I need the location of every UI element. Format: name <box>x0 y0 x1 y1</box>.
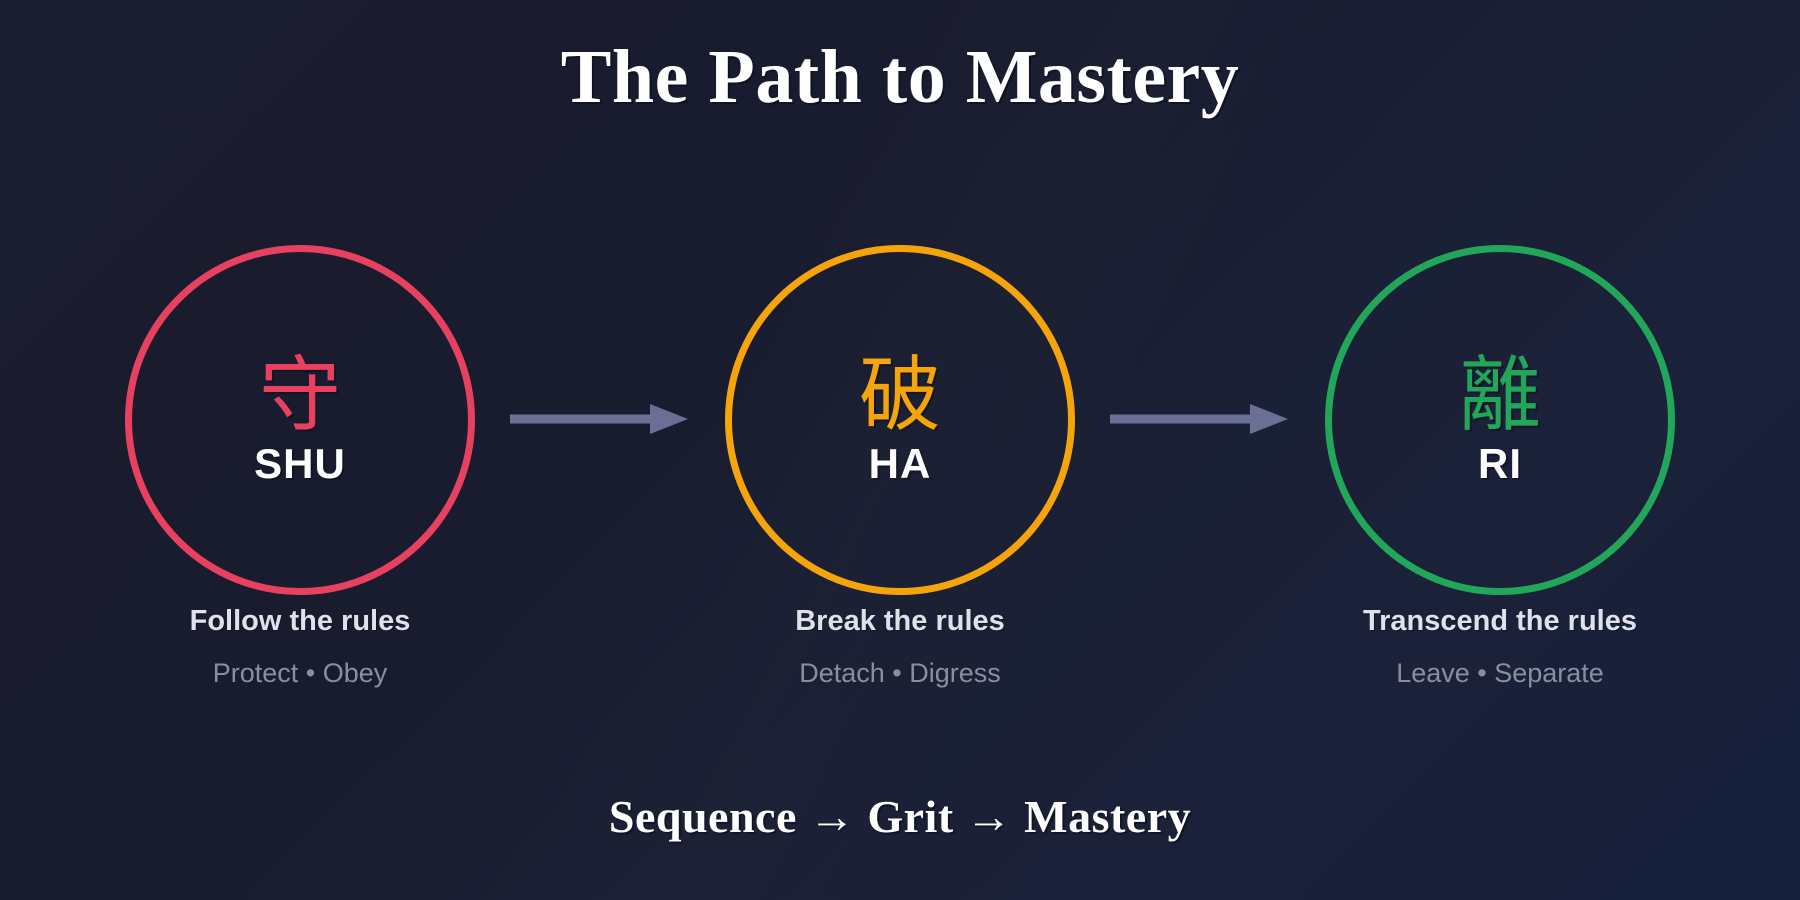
stage-ha[interactable]: 破 HA <box>725 245 1075 595</box>
stage-ha-kanji: 破 <box>859 355 941 437</box>
caption-ri-sub: Leave • Separate <box>1290 658 1710 689</box>
stage-shu-romaji: SHU <box>254 443 346 485</box>
stage-ri-romaji: RI <box>1478 443 1522 485</box>
stage-captions: Follow the rules Protect • Obey Break th… <box>0 605 1800 725</box>
stage-shu[interactable]: 守 SHU <box>125 245 475 595</box>
caption-ha: Break the rules Detach • Digress <box>690 605 1110 689</box>
caption-ha-sub: Detach • Digress <box>690 658 1110 689</box>
stage-ha-romaji: HA <box>869 443 932 485</box>
caption-ha-head: Break the rules <box>690 605 1110 638</box>
caption-shu-sub: Protect • Obey <box>90 658 510 689</box>
caption-shu: Follow the rules Protect • Obey <box>90 605 510 689</box>
stage-shu-content: 守 SHU <box>125 245 475 595</box>
page-title: The Path to Mastery <box>0 34 1800 121</box>
stage-ri[interactable]: 離 RI <box>1325 245 1675 595</box>
stage-ri-content: 離 RI <box>1325 245 1675 595</box>
stage-circles: 守 SHU 破 HA 離 RI <box>0 245 1800 605</box>
stage-ha-content: 破 HA <box>725 245 1075 595</box>
caption-shu-head: Follow the rules <box>90 605 510 638</box>
stage-shu-kanji: 守 <box>259 355 341 437</box>
caption-ri-head: Transcend the rules <box>1290 605 1710 638</box>
stage-ri-kanji: 離 <box>1459 355 1541 437</box>
footer-summary: Sequence → Grit → Mastery <box>0 790 1800 843</box>
caption-ri: Transcend the rules Leave • Separate <box>1290 605 1710 689</box>
